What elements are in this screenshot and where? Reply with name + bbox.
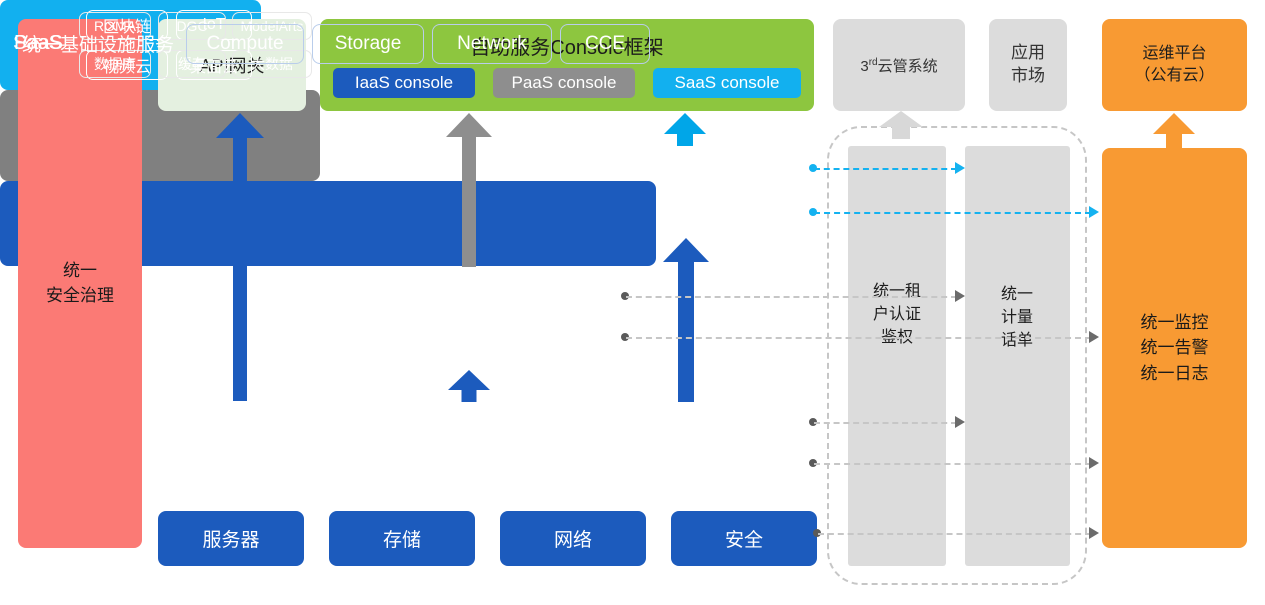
ops-platform-public-cloud-box: 运维平台 （公有云） bbox=[1102, 19, 1247, 111]
connector-saas-to-ops bbox=[814, 212, 1091, 214]
hardware-box-security: 安全 bbox=[671, 511, 817, 566]
connector-arrowhead-hardware bbox=[1089, 527, 1099, 539]
security-line-1: 统一 bbox=[46, 259, 114, 284]
iaas-console-chip[interactable]: IaaS console bbox=[333, 68, 475, 98]
hardware-box-server: 服务器 bbox=[158, 511, 304, 566]
unified-tenant-auth-column bbox=[848, 146, 946, 566]
ops-body-line-1: 统一监控 bbox=[1141, 310, 1209, 336]
infra-chip-compute[interactable]: Compute bbox=[186, 24, 304, 64]
connector-paas-to-ops bbox=[626, 337, 1091, 339]
third-party-cloud-mgmt-box: 3rd云管系统 bbox=[833, 19, 965, 111]
connector-infra-to-ops bbox=[814, 463, 1091, 465]
third-cloud-label: 3rd云管系统 bbox=[860, 55, 937, 76]
unified-tenant-auth-label: 统一租 户认证 鉴权 bbox=[843, 280, 951, 350]
arrow-auth-to-third-cloud-icon bbox=[879, 111, 923, 139]
arrow-saas-to-console-icon bbox=[664, 113, 706, 146]
connector-arrowhead-saas-2 bbox=[1089, 206, 1099, 218]
saas-console-label: SaaS console bbox=[675, 73, 780, 93]
connector-saas-to-auth bbox=[814, 168, 957, 170]
connector-arrowhead-infra-2 bbox=[1089, 457, 1099, 469]
connector-arrowhead-saas-1 bbox=[955, 162, 965, 174]
app-market-box: 应用 市场 bbox=[989, 19, 1067, 111]
arrow-infra-to-paas-icon bbox=[448, 370, 490, 402]
unified-security-panel: 统一 安全治理 bbox=[18, 19, 142, 548]
iaas-console-label: IaaS console bbox=[355, 73, 453, 93]
saas-console-chip[interactable]: SaaS console bbox=[653, 68, 801, 98]
arrow-ops-feed-icon bbox=[1153, 113, 1195, 148]
infra-chip-network[interactable]: Network bbox=[432, 24, 552, 64]
paas-console-chip[interactable]: PaaS console bbox=[493, 68, 635, 98]
infra-chip-storage[interactable]: Storage bbox=[312, 24, 424, 64]
ops-body-line-3: 统一日志 bbox=[1141, 361, 1209, 387]
app-market-line-2: 市场 bbox=[1011, 65, 1045, 88]
third-cloud-prefix: 3 bbox=[860, 58, 868, 75]
connector-hardware-to-ops bbox=[818, 533, 1091, 535]
architecture-diagram: 统一 安全治理 API网关 自助服务Console框架 IaaS console… bbox=[0, 0, 1265, 605]
hardware-box-storage: 存储 bbox=[329, 511, 475, 566]
app-market-line-1: 应用 bbox=[1011, 42, 1045, 65]
unified-metering-label: 统一 计量 话单 bbox=[962, 283, 1072, 353]
arrow-infra-to-api-gateway-icon bbox=[216, 113, 264, 401]
ops-top-line-1: 运维平台 bbox=[1134, 43, 1214, 65]
connector-arrowhead-paas-2 bbox=[1089, 331, 1099, 343]
ops-top-line-2: （公有云） bbox=[1134, 65, 1214, 87]
connector-paas-to-auth bbox=[626, 296, 957, 298]
unified-monitoring-panel: 统一监控 统一告警 统一日志 bbox=[1102, 148, 1247, 548]
unified-metering-column bbox=[965, 146, 1070, 566]
ops-body-line-2: 统一告警 bbox=[1141, 335, 1209, 361]
infrastructure-label: 统一基础设施服务 bbox=[22, 30, 174, 57]
infra-chip-cce[interactable]: CCE bbox=[560, 24, 650, 64]
connector-arrowhead-infra-1 bbox=[955, 416, 965, 428]
third-cloud-superscript: rd bbox=[869, 57, 878, 68]
connector-arrowhead-paas-1 bbox=[955, 290, 965, 302]
hardware-box-network: 网络 bbox=[500, 511, 646, 566]
paas-console-label: PaaS console bbox=[512, 73, 617, 93]
third-cloud-suffix: 云管系统 bbox=[878, 58, 938, 75]
arrow-paas-to-console-icon bbox=[446, 113, 492, 267]
security-line-2: 安全治理 bbox=[46, 284, 114, 309]
arrow-infra-to-saas-icon bbox=[663, 238, 709, 402]
connector-infra-to-auth bbox=[814, 422, 957, 424]
